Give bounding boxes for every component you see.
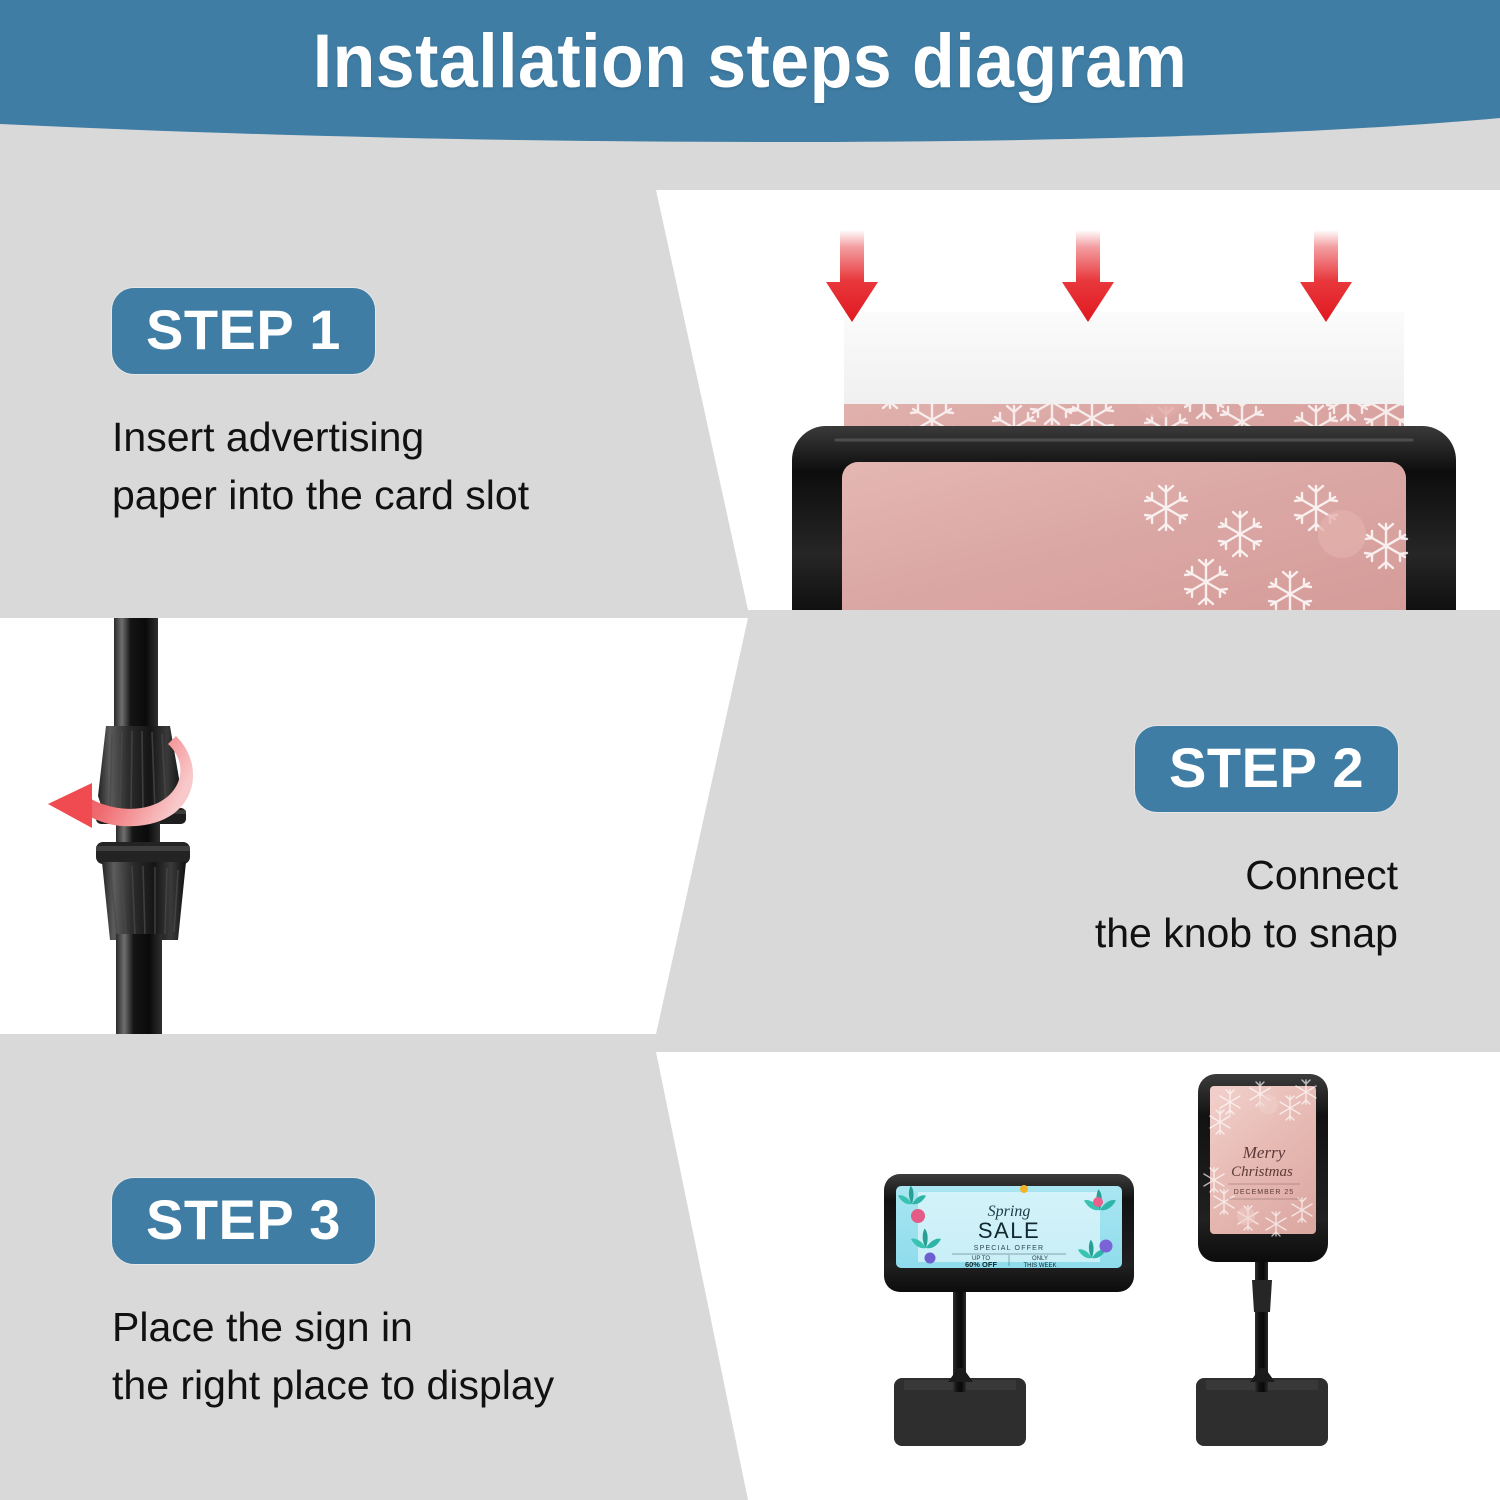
spring-sign-offer-left-2: 60% OFF — [965, 1260, 998, 1269]
step-2-description: Connect the knob to snap — [1095, 846, 1398, 962]
christmas-sign-title-2: Christmas — [1231, 1164, 1293, 1180]
step-2-illustration-panel — [0, 618, 760, 1034]
step-1-text-block: STEP 1 Insert advertising paper into the… — [112, 288, 529, 524]
spring-sign-offer-right-2: THIS WEEK — [1023, 1263, 1056, 1269]
step-2-text-block: STEP 2 Connect the knob to snap — [1095, 726, 1398, 962]
christmas-sign-date: DECEMBER 25 — [1234, 1189, 1294, 1196]
spring-sign-main-title: SALE — [978, 1218, 1040, 1243]
spring-sign-offer-right-1: ONLY — [1032, 1256, 1048, 1262]
installation-steps-diagram: Installation steps diagram — [0, 0, 1500, 1500]
step-1-badge: STEP 1 — [112, 288, 375, 374]
christmas-sign-title-1: Merry — [1242, 1143, 1286, 1162]
sign-stand-christmas: Merry Christmas DECEMBER 25 — [1196, 1074, 1328, 1446]
step-3-text-block: STEP 3 Place the sign in the right place… — [112, 1178, 554, 1414]
step-1-illustration-panel — [600, 190, 1500, 610]
step-1-description: Insert advertising paper into the card s… — [112, 408, 529, 524]
spring-sign-subtitle: SPECIAL OFFER — [974, 1245, 1045, 1252]
header-banner: Installation steps diagram — [0, 0, 1500, 150]
step-3-illustration-panel: Spring SALE SPECIAL OFFER UP TO 60% OFF … — [600, 1052, 1500, 1500]
step-2-badge: STEP 2 — [1135, 726, 1398, 812]
step-3-description: Place the sign in the right place to dis… — [112, 1298, 554, 1414]
step-3-badge: STEP 3 — [112, 1178, 375, 1264]
page-title: Installation steps diagram — [60, 18, 1440, 105]
